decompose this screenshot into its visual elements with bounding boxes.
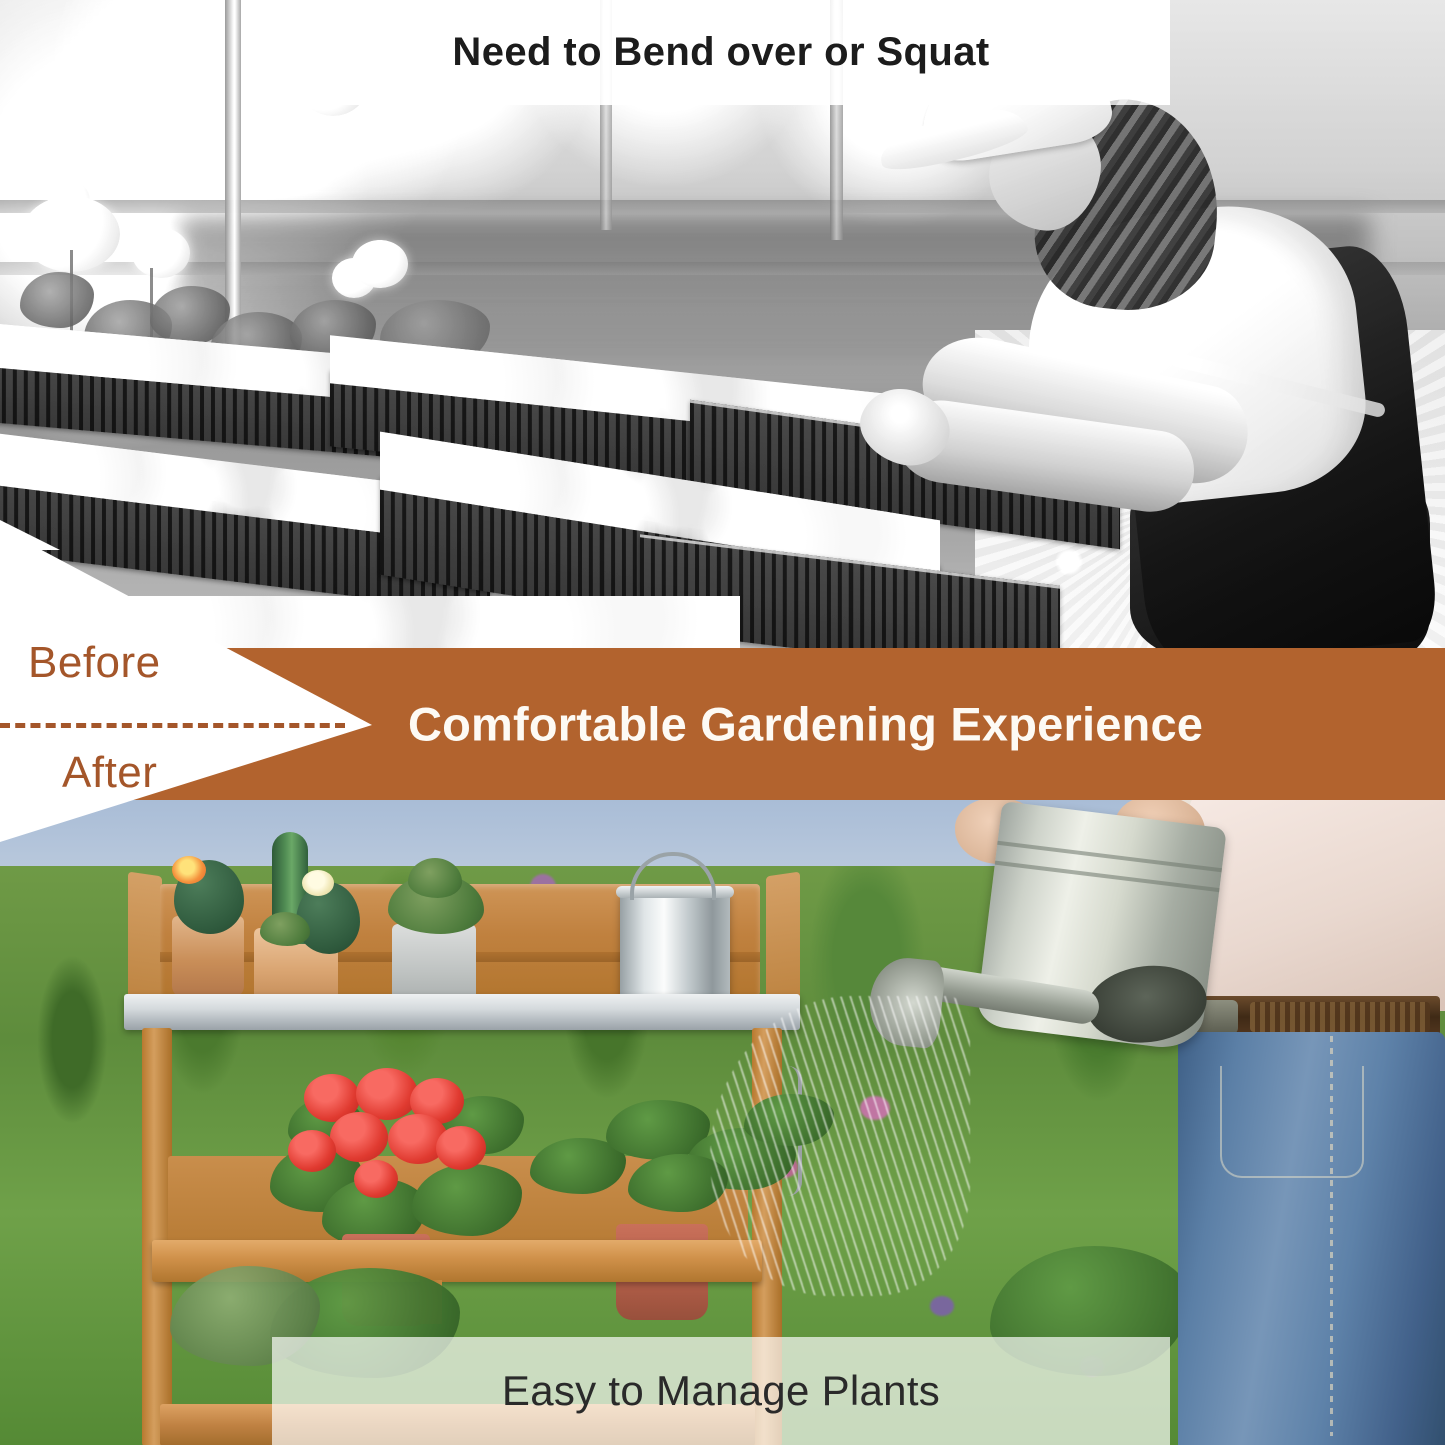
bottom-caption-text: Easy to Manage Plants	[502, 1367, 940, 1415]
rose-bloom	[132, 228, 190, 278]
bench-side-panel-left	[128, 872, 162, 1009]
before-label: Before	[28, 638, 161, 688]
before-after-dashed-arrow-icon	[0, 723, 345, 728]
cactus-flower	[302, 870, 334, 896]
after-label: After	[62, 748, 157, 798]
headline-text: Comfortable Gardening Experience	[408, 697, 1203, 752]
begonia-flower	[330, 1112, 388, 1162]
galvanized-bucket	[620, 892, 730, 1010]
watering-can	[975, 801, 1227, 1052]
jeans-pocket	[1220, 1066, 1364, 1178]
crouching-gardener	[800, 60, 1400, 652]
begonia-leaf	[412, 1164, 522, 1236]
begonia-flower	[436, 1126, 486, 1170]
rose-bloom	[352, 240, 408, 288]
top-caption-text: Need to Bend over or Squat	[452, 30, 989, 75]
bottom-caption-band: Easy to Manage Plants	[272, 1337, 1170, 1445]
red-begonia-plant	[270, 1068, 540, 1258]
person-shirt	[1190, 796, 1445, 1011]
promo-banner-stage: Need to Bend over or Squat	[0, 0, 1445, 1445]
bucket-handle	[630, 852, 716, 900]
cactus-flower	[172, 856, 206, 884]
leafy-succulent	[408, 858, 462, 898]
cactus-bloom	[580, 1172, 632, 1204]
grass-succulent	[260, 912, 310, 946]
begonia-flower	[354, 1160, 398, 1198]
belt-texture	[1250, 1002, 1430, 1032]
bench-metal-worktop	[124, 994, 800, 1030]
top-caption-band: Need to Bend over or Squat	[272, 0, 1170, 105]
begonia-flower	[288, 1130, 336, 1172]
can-opening	[1083, 959, 1211, 1049]
bench-side-panel-right	[766, 872, 800, 1009]
